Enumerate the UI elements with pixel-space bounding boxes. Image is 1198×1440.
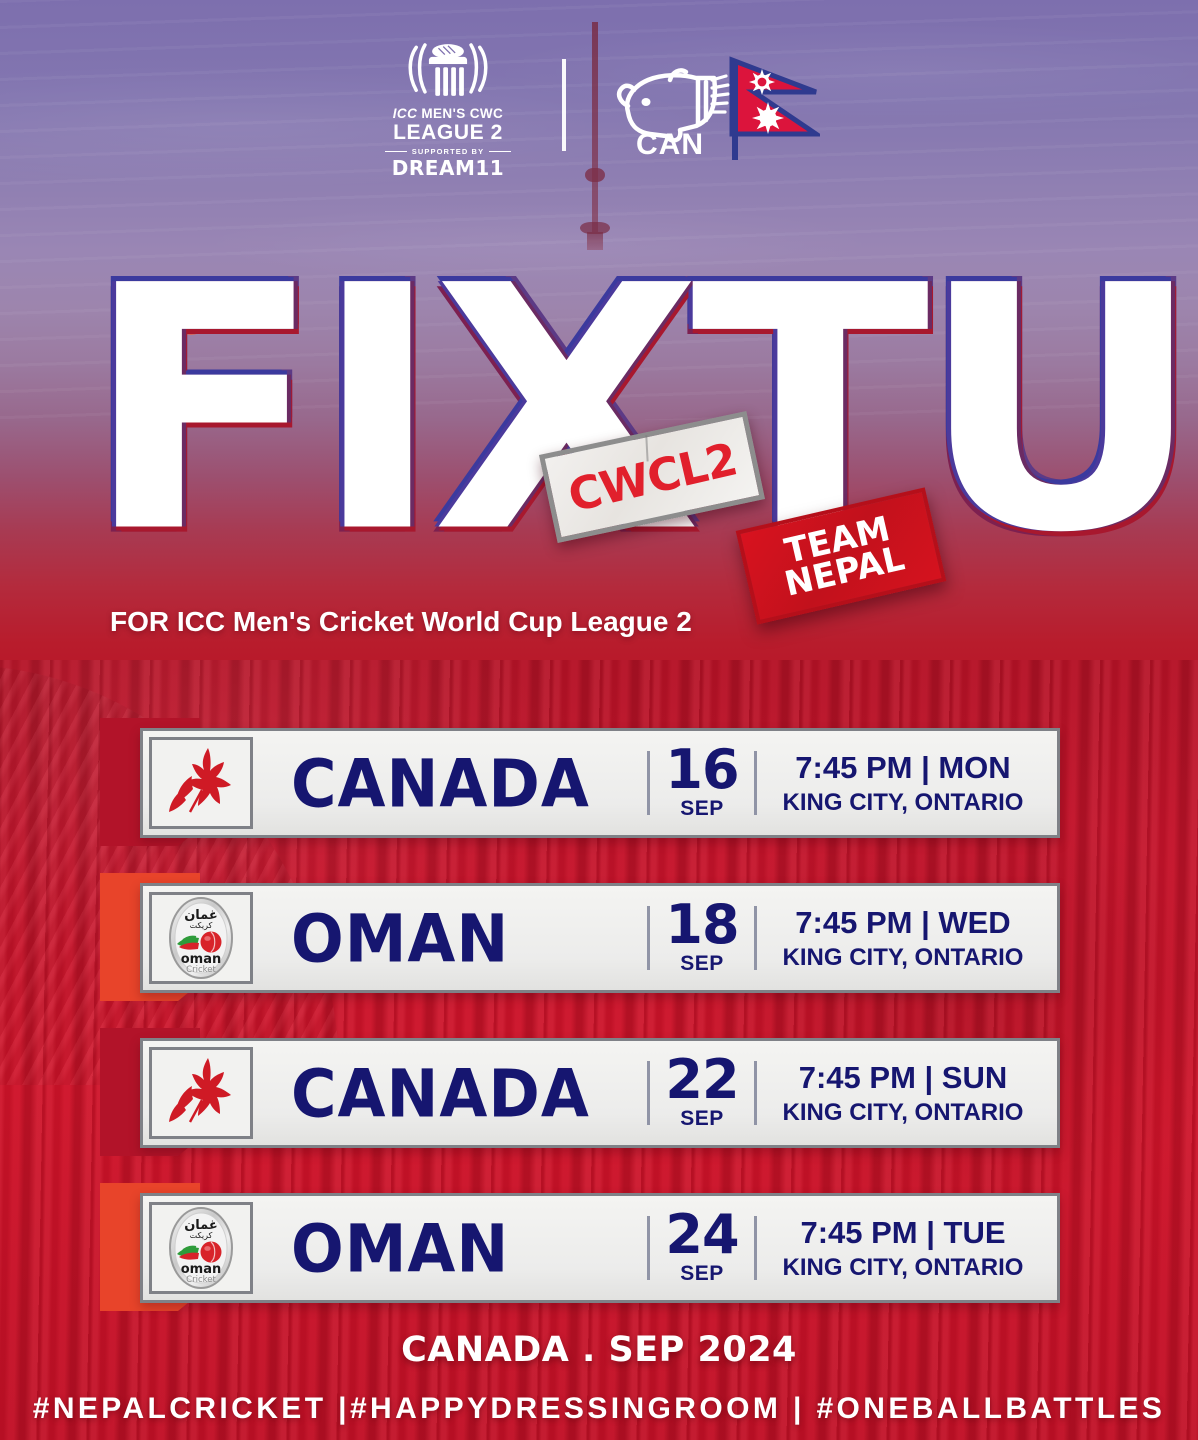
fixtures-list: CANADA 16 SEP 7:45 PM | MON KING CITY, O…	[0, 712, 1198, 1332]
fixture-row-1[interactable]: CANADA 16 SEP 7:45 PM | MON KING CITY, O…	[0, 712, 1198, 867]
match-venue: KING CITY, ONTARIO	[783, 1099, 1024, 1127]
hero-subtitle: FOR ICC Men's Cricket World Cup League 2	[110, 606, 692, 638]
footer-hashtags: #NEPALCRICKET |#HAPPYDRESSINGROOM | #ONE…	[0, 1392, 1198, 1426]
fixture-row-4[interactable]: غمان كريكت oman Cricket OMAN 24 SEP 7:45…	[0, 1177, 1198, 1332]
fixture-card[interactable]: CANADA 16 SEP 7:45 PM | MON KING CITY, O…	[140, 728, 1060, 838]
match-day-number: 24	[665, 1210, 738, 1260]
match-day-number: 18	[665, 900, 738, 950]
cricket-canada-maple-leaf-icon	[162, 742, 240, 824]
match-day-number: 16	[665, 745, 738, 795]
team-logo-box-oman-cricket-badge-icon: غمان كريكت oman Cricket	[149, 1202, 253, 1294]
poster-canvas: ICC MEN'S CWC LEAGUE 2 SUPPORTED BY DREA…	[0, 0, 1198, 1440]
match-month: SEP	[680, 1107, 724, 1131]
cricket-association-nepal-logo: CAN	[610, 50, 820, 170]
match-month: SEP	[680, 797, 724, 821]
header-logo-bar: ICC MEN'S CWC LEAGUE 2 SUPPORTED BY DREA…	[0, 40, 1198, 180]
opponent-name: OMAN	[253, 1193, 647, 1303]
match-time-and-day: 7:45 PM | SUN	[799, 1060, 1008, 1096]
svg-text:Cricket: Cricket	[186, 1275, 216, 1285]
match-month: SEP	[680, 1262, 724, 1286]
divider-left	[385, 151, 407, 153]
svg-text:كريكت: كريكت	[190, 1231, 213, 1240]
match-time-and-day: 7:45 PM | WED	[795, 905, 1010, 941]
svg-text:كريكت: كريكت	[190, 921, 213, 930]
opponent-name: CANADA	[253, 1038, 647, 1148]
match-venue: KING CITY, ONTARIO	[783, 944, 1024, 972]
page-title: FIXTURES	[84, 196, 1198, 624]
match-day-number: 22	[665, 1055, 738, 1105]
fixture-card[interactable]: غمان كريكت oman Cricket OMAN 24 SEP 7:45…	[140, 1193, 1060, 1303]
oman-cricket-badge-icon: غمان كريكت oman Cricket	[159, 895, 243, 981]
icc-cwc-league2-logo: ICC MEN'S CWC LEAGUE 2 SUPPORTED BY DREA…	[378, 41, 518, 179]
fixture-card[interactable]: غمان كريكت oman Cricket OMAN 18 SEP 7:45…	[140, 883, 1060, 993]
fixture-row-3[interactable]: CANADA 22 SEP 7:45 PM | SUN KING CITY, O…	[0, 1022, 1198, 1177]
cricket-canada-maple-leaf-icon	[162, 1052, 240, 1134]
match-time-and-day: 7:45 PM | MON	[795, 750, 1010, 786]
header-vertical-divider	[562, 59, 566, 151]
match-month: SEP	[680, 952, 724, 976]
icc-logo-line2: LEAGUE 2	[378, 121, 518, 144]
team-logo-box-cricket-canada-maple-leaf-icon	[149, 1047, 253, 1139]
divider-right	[489, 151, 511, 153]
icc-trophy-icon	[400, 41, 496, 103]
fixture-row-2[interactable]: غمان كريكت oman Cricket OMAN 18 SEP 7:45…	[0, 867, 1198, 1022]
svg-text:Cricket: Cricket	[186, 965, 216, 975]
fixture-card[interactable]: CANADA 22 SEP 7:45 PM | SUN KING CITY, O…	[140, 1038, 1060, 1148]
opponent-name: CANADA	[253, 728, 647, 838]
match-meta: 7:45 PM | WED KING CITY, ONTARIO	[757, 886, 1057, 990]
can-logo-label: CAN	[636, 128, 704, 162]
stamp-cwcl2-label: CWCL2	[563, 432, 741, 522]
hero-title-block: FIXTURES FOR ICC Men's Cricket World Cup…	[0, 196, 1198, 636]
match-date: 16 SEP	[650, 731, 754, 835]
supported-by-label: SUPPORTED BY	[412, 147, 484, 156]
match-meta: 7:45 PM | TUE KING CITY, ONTARIO	[757, 1196, 1057, 1300]
opponent-name: OMAN	[253, 883, 647, 993]
match-venue: KING CITY, ONTARIO	[783, 789, 1024, 817]
match-date: 18 SEP	[650, 886, 754, 990]
match-date: 24 SEP	[650, 1196, 754, 1300]
icc-supported-by: SUPPORTED BY	[378, 147, 518, 156]
match-meta: 7:45 PM | SUN KING CITY, ONTARIO	[757, 1041, 1057, 1145]
oman-cricket-badge-icon: غمان كريكت oman Cricket	[159, 1205, 243, 1291]
team-logo-box-cricket-canada-maple-leaf-icon	[149, 737, 253, 829]
nepal-flag-icon	[728, 56, 820, 164]
team-logo-box-oman-cricket-badge-icon: غمان كريكت oman Cricket	[149, 892, 253, 984]
footer-location-date: CANADA . SEP 2024	[0, 1330, 1198, 1370]
dream11-sponsor-label: DREAM11	[378, 157, 518, 179]
icc-logo-line1: ICC MEN'S CWC	[378, 107, 518, 121]
match-date: 22 SEP	[650, 1041, 754, 1145]
match-time-and-day: 7:45 PM | TUE	[800, 1215, 1005, 1251]
match-venue: KING CITY, ONTARIO	[783, 1254, 1024, 1282]
match-meta: 7:45 PM | MON KING CITY, ONTARIO	[757, 731, 1057, 835]
